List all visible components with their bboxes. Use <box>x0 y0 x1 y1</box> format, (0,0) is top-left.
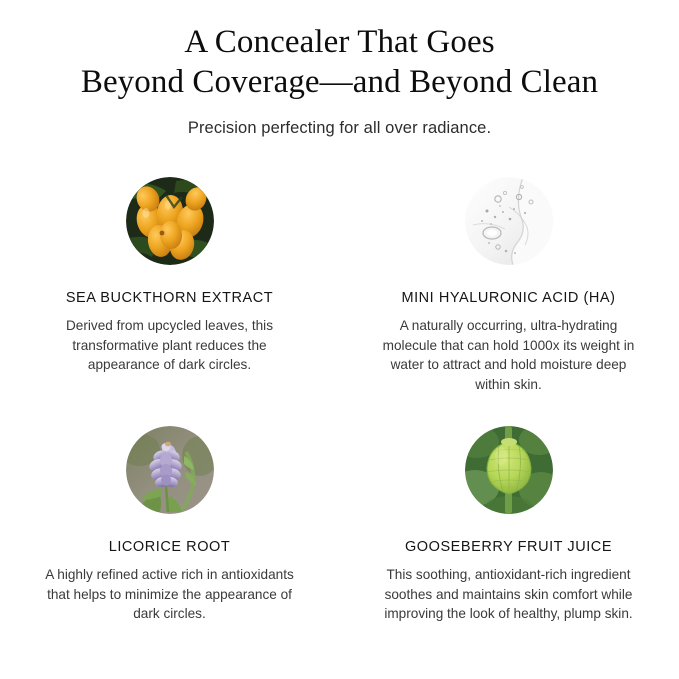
ingredient-description: A highly refined active rich in antioxid… <box>44 565 296 624</box>
ingredient-title: LICORICE ROOT <box>109 538 231 556</box>
gooseberry-husk-fruit-image <box>465 426 553 514</box>
hyaluronic-acid-gel-image <box>465 177 553 265</box>
ingredient-description: A naturally occurring, ultra-hydrating m… <box>380 316 638 394</box>
ingredient-card-gooseberry: GOOSEBERRY FRUIT JUICE This soothing, an… <box>339 426 678 624</box>
page-title-line-2: Beyond Coverage—and Beyond Clean <box>40 62 640 102</box>
ingredient-card-licorice-root: LICORICE ROOT A highly refined active ri… <box>0 426 339 624</box>
ingredient-title: GOOSEBERRY FRUIT JUICE <box>405 538 612 556</box>
ingredient-benefits-page: A Concealer That Goes Beyond Coverage—an… <box>0 0 679 679</box>
ingredient-description: Derived from upcycled leaves, this trans… <box>44 316 296 375</box>
ingredient-grid: SEA BUCKTHORN EXTRACT Derived from upcyc… <box>0 177 679 624</box>
page-title: A Concealer That Goes Beyond Coverage—an… <box>40 22 640 102</box>
ingredient-title: SEA BUCKTHORN EXTRACT <box>66 289 273 307</box>
page-subtitle: Precision perfecting for all over radian… <box>0 117 679 139</box>
licorice-root-flower-image <box>126 426 214 514</box>
page-title-line-1: A Concealer That Goes <box>40 22 640 62</box>
ingredient-description: This soothing, antioxidant-rich ingredie… <box>380 565 638 624</box>
ingredient-title: MINI HYALURONIC ACID (HA) <box>401 289 615 307</box>
sea-buckthorn-berries-image <box>126 177 214 265</box>
ingredient-card-hyaluronic-acid: MINI HYALURONIC ACID (HA) A naturally oc… <box>339 177 678 394</box>
ingredient-card-sea-buckthorn: SEA BUCKTHORN EXTRACT Derived from upcyc… <box>0 177 339 394</box>
page-header: A Concealer That Goes Beyond Coverage—an… <box>0 0 679 139</box>
